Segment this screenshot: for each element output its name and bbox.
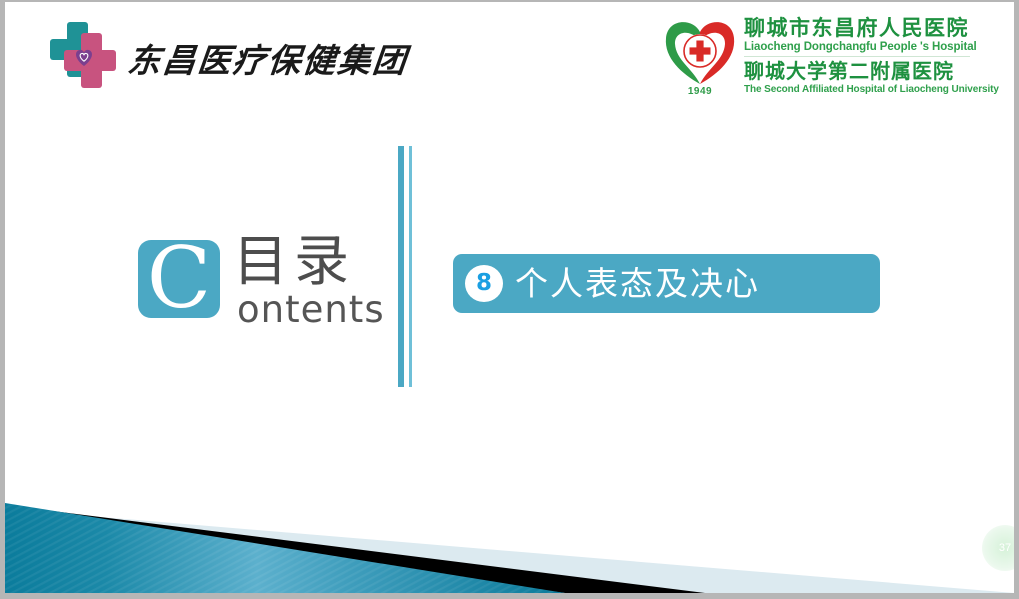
agenda-item-8[interactable]: 8 个人表态及决心 (453, 254, 880, 313)
emblem-year: 1949 (660, 86, 740, 97)
hospital-name-en: Liaocheng Dongchangfu People 's Hospital (744, 40, 970, 54)
dove-heart-cross-emblem-icon (660, 16, 740, 86)
slide-canvas: 东昌医疗保健集团 1949 聊城市东昌府人民医院 Liaocheng Dongc… (5, 2, 1014, 593)
bottom-decoration (5, 473, 1014, 593)
affiliate-name-en: The Second Affiliated Hospital of Liaoch… (744, 83, 970, 96)
contents-title-cn: 目录 (233, 232, 355, 290)
heart-icon (72, 44, 96, 68)
deco-blue-texture (5, 503, 565, 593)
affiliate-name-cn: 聊城大学第二附属医院 (744, 60, 970, 83)
medical-cross-heart-logo-icon (50, 22, 120, 88)
contents-title-en: ontents (237, 290, 385, 330)
divider-line-thick (398, 146, 404, 387)
hospital-divider (744, 56, 970, 57)
divider-line-thin (409, 146, 412, 387)
hospital-name-cn: 聊城市东昌府人民医院 (744, 16, 970, 40)
hospital-logo: 1949 聊城市东昌府人民医院 Liaocheng Dongchangfu Pe… (660, 16, 970, 108)
contents-badge: C (138, 240, 220, 318)
group-name-text: 东昌医疗保健集团 (125, 34, 410, 82)
agenda-item-label: 个人表态及决心 (515, 262, 760, 306)
agenda-item-number: 8 (465, 265, 503, 302)
slide-frame: 东昌医疗保健集团 1949 聊城市东昌府人民医院 Liaocheng Dongc… (0, 0, 1019, 599)
group-logo: 东昌医疗保健集团 (50, 20, 390, 90)
hospital-text-block: 聊城市东昌府人民医院 Liaocheng Dongchangfu People … (744, 16, 970, 96)
